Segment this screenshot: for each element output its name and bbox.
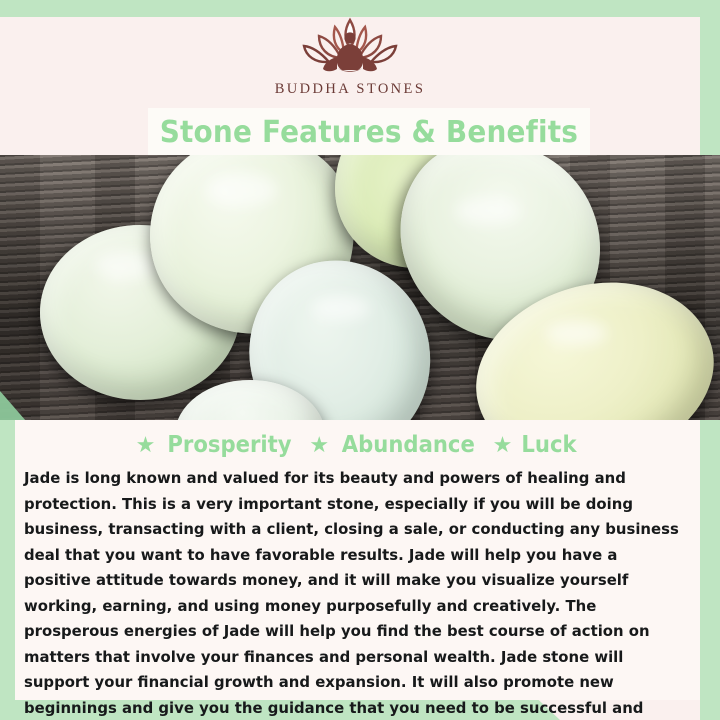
- left-accent-band: [0, 420, 15, 690]
- page-title: Stone Features & Benefits: [160, 115, 578, 150]
- keyword-label: Luck: [522, 432, 577, 458]
- star-icon: ★: [309, 434, 329, 456]
- keyword-label: Abundance: [342, 432, 475, 458]
- lotus-meditation-icon: [291, 14, 409, 80]
- stone-5-sheen: [312, 295, 370, 321]
- infographic-card: BUDDHA STONES Stone Features & Benefits …: [0, 0, 720, 720]
- keyword-prosperity: ★ Prosperity: [136, 432, 298, 458]
- stone-6-sheen: [545, 320, 607, 346]
- title-banner: Stone Features & Benefits: [148, 108, 590, 156]
- description-text: Jade is long known and valued for its be…: [24, 466, 682, 720]
- keyword-abundance: ★ Abundance: [309, 432, 480, 458]
- stone-photo: Jade: [0, 155, 720, 420]
- keyword-list: ★ Prosperity ★ Abundance ★ Luck: [15, 428, 700, 462]
- star-icon: ★: [493, 434, 513, 456]
- content-panel: ★ Prosperity ★ Abundance ★ Luck Jade is …: [15, 420, 700, 700]
- star-icon: ★: [136, 434, 156, 456]
- stone-1-sheen: [95, 250, 157, 280]
- brand-logo: BUDDHA STONES: [0, 14, 700, 106]
- brand-name: BUDDHA STONES: [275, 81, 426, 98]
- keyword-luck: ★ Luck: [493, 432, 580, 458]
- keyword-label: Prosperity: [168, 432, 292, 458]
- stone-2-sheen: [205, 173, 277, 207]
- stone-4-sheen: [455, 197, 521, 225]
